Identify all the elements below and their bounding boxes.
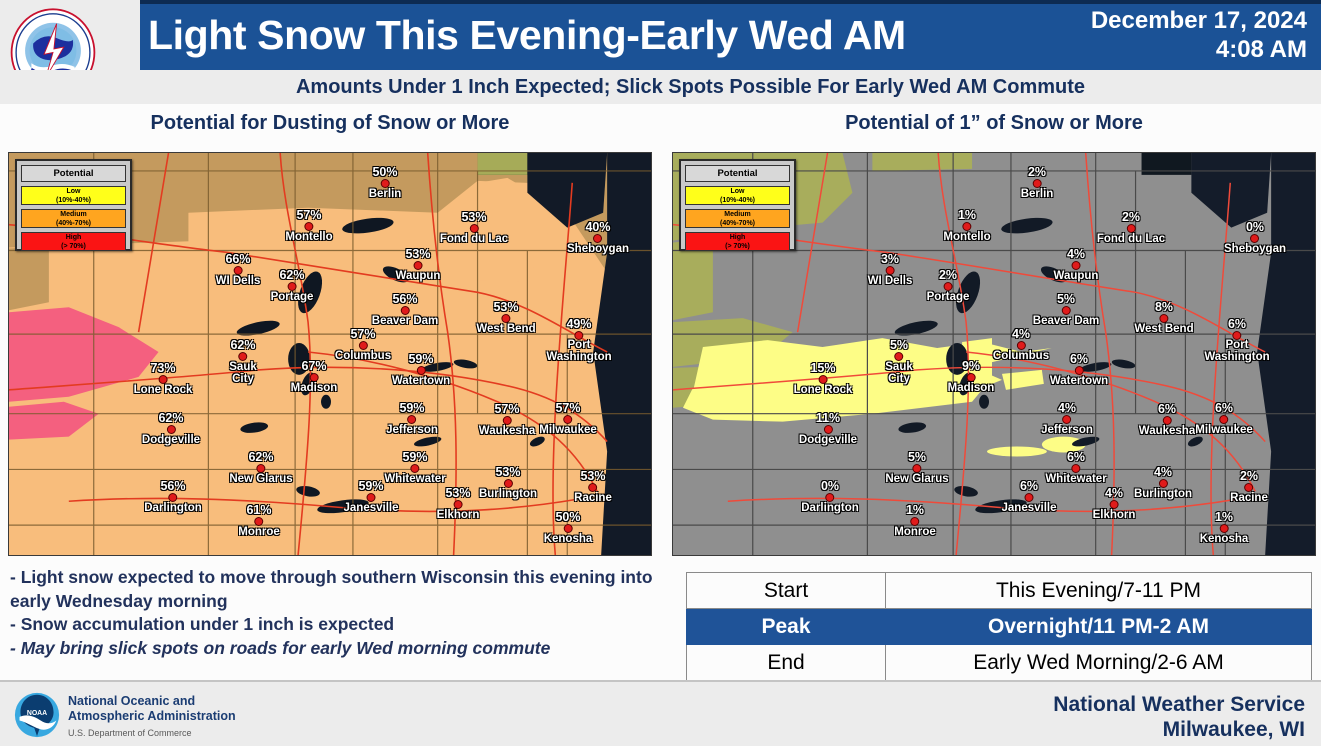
city-dot-icon	[158, 375, 167, 384]
city-name: WI Dells	[216, 275, 261, 287]
city-probability: 49%	[546, 318, 611, 331]
table-row: Start This Evening/7-11 PM	[687, 573, 1312, 609]
city-marker: 1%Monroe	[894, 504, 936, 538]
city-name: Dodgeville	[799, 434, 857, 446]
city-name: Milwaukee	[1195, 424, 1253, 436]
city-dot-icon	[169, 493, 178, 502]
city-name: Watertown	[392, 375, 450, 387]
city-probability: 5%	[885, 339, 913, 352]
city-probability: 0%	[801, 480, 859, 493]
city-name: PortWashington	[1204, 340, 1269, 363]
city-probability: 6%	[1195, 402, 1253, 415]
city-probability: 2%	[1021, 166, 1054, 179]
city-name: Montello	[943, 231, 990, 243]
city-probability: 59%	[344, 480, 399, 493]
legend-title-right: Potential	[685, 165, 790, 182]
city-dot-icon	[454, 500, 463, 509]
city-dot-icon	[255, 517, 264, 526]
city-marker: 2%Berlin	[1021, 166, 1054, 200]
svg-text:NOAA: NOAA	[27, 710, 47, 717]
city-marker: 15%Lone Rock	[794, 362, 853, 396]
city-marker: 53%Fond du Lac	[440, 211, 508, 245]
city-dot-icon	[381, 179, 390, 188]
city-marker: 4%Elkhorn	[1093, 487, 1136, 521]
city-probability: 6%	[1045, 451, 1106, 464]
city-probability: 57%	[285, 209, 332, 222]
city-probability: 57%	[539, 402, 597, 415]
city-name: Beaver Dam	[1033, 315, 1099, 327]
city-probability: 4%	[1054, 248, 1099, 261]
city-dot-icon	[469, 224, 478, 233]
timing-value-start: This Evening/7-11 PM	[886, 573, 1312, 609]
city-name: Watertown	[1050, 375, 1108, 387]
city-marker: 62%SaukCity	[229, 339, 257, 385]
city-probability: 5%	[885, 451, 948, 464]
legend-low-label-right: Low	[686, 188, 789, 197]
city-name: New Glarus	[229, 473, 292, 485]
city-marker: 2%Fond du Lac	[1097, 211, 1165, 245]
city-dot-icon	[1024, 493, 1033, 502]
city-probability: 56%	[144, 480, 202, 493]
city-probability: 61%	[238, 504, 280, 517]
city-marker: 6%Janesville	[1002, 480, 1057, 514]
city-dot-icon	[167, 425, 176, 434]
city-name: Sheboygan	[1224, 243, 1286, 255]
city-dot-icon	[1159, 479, 1168, 488]
timing-label-peak: Peak	[687, 609, 886, 645]
city-marker: 57%Columbus	[335, 328, 391, 362]
city-marker: 9%Madison	[948, 360, 995, 394]
city-marker: 1%Kenosha	[1200, 511, 1249, 545]
city-dot-icon	[1250, 234, 1259, 243]
city-name: Fond du Lac	[1097, 233, 1165, 245]
legend-row-low: Low (10%-40%)	[21, 186, 126, 205]
legend-medium-range: (40%-70%)	[22, 220, 125, 229]
city-dot-icon	[1219, 524, 1228, 533]
city-marker: 2%Portage	[927, 269, 970, 303]
city-dot-icon	[1074, 366, 1083, 375]
city-dot-icon	[1072, 464, 1081, 473]
footer-bar: NOAA National Oceanic and Atmospheric Ad…	[0, 680, 1321, 746]
city-dot-icon	[358, 341, 367, 350]
city-dot-icon	[1220, 415, 1229, 424]
city-probability: 53%	[396, 248, 441, 261]
city-marker: 1%Montello	[943, 209, 990, 243]
city-probability: 59%	[384, 451, 445, 464]
legend-row-low-right: Low (10%-40%)	[685, 186, 790, 205]
city-probability: 53%	[574, 470, 612, 483]
city-name: Darlington	[801, 502, 859, 514]
city-marker: 49%PortWashington	[546, 318, 611, 363]
city-name: Beaver Dam	[372, 315, 438, 327]
city-marker: 59%Watertown	[392, 353, 450, 387]
city-marker: 4%Waupun	[1054, 248, 1099, 282]
city-dot-icon	[503, 416, 512, 425]
city-name: Elkhorn	[437, 509, 480, 521]
city-name: Waupun	[1054, 270, 1099, 282]
city-probability: 53%	[476, 301, 535, 314]
city-probability: 1%	[1200, 511, 1249, 524]
city-probability: 6%	[1204, 318, 1269, 331]
table-row: Peak Overnight/11 PM-2 AM	[687, 609, 1312, 645]
city-dot-icon	[413, 261, 422, 270]
city-dot-icon	[911, 517, 920, 526]
city-marker: 40%Sheboygan	[567, 221, 629, 255]
noaa-department: U.S. Department of Commerce	[68, 728, 192, 738]
city-dot-icon	[818, 375, 827, 384]
city-marker: 4%Jefferson	[1041, 402, 1093, 436]
city-name: Lone Rock	[794, 384, 853, 396]
city-dot-icon	[416, 366, 425, 375]
city-probability: 73%	[134, 362, 193, 375]
legend-high-range: (> 70%)	[22, 243, 125, 252]
timing-label-end: End	[687, 645, 886, 681]
city-name: West Bend	[476, 323, 535, 335]
city-name: Kenosha	[544, 533, 593, 545]
city-marker: 11%Dodgeville	[799, 412, 857, 446]
city-probability: 56%	[372, 293, 438, 306]
city-probability: 59%	[386, 402, 438, 415]
city-name: Darlington	[144, 502, 202, 514]
headline-title: Light Snow This Evening-Early Wed AM	[148, 8, 988, 62]
city-dot-icon	[563, 524, 572, 533]
city-probability: 6%	[1050, 353, 1108, 366]
subheader-text: Amounts Under 1 Inch Expected; Slick Spo…	[0, 70, 1321, 104]
city-name: Sheboygan	[567, 243, 629, 255]
city-name: Elkhorn	[1093, 509, 1136, 521]
city-name: Columbus	[993, 350, 1049, 362]
legend-row-medium: Medium (40%-70%)	[21, 209, 126, 228]
city-probability: 11%	[799, 412, 857, 425]
city-marker: 73%Lone Rock	[134, 362, 193, 396]
city-marker: 61%Monroe	[238, 504, 280, 538]
noaa-line-2: Atmospheric Administration	[68, 709, 236, 724]
city-marker: 0%Sheboygan	[1224, 221, 1286, 255]
city-dot-icon	[233, 266, 242, 275]
city-dot-icon	[963, 222, 972, 231]
city-marker: 62%Dodgeville	[142, 412, 200, 446]
city-marker: 66%WI Dells	[216, 253, 261, 287]
city-probability: 2%	[1097, 211, 1165, 224]
office-line-2: Milwaukee, WI	[1053, 717, 1305, 742]
city-probability: 6%	[1139, 403, 1195, 416]
city-dot-icon	[1110, 500, 1119, 509]
city-dot-icon	[287, 282, 296, 291]
city-name: Waukesha	[479, 425, 535, 437]
issued-time: 4:08 AM	[1091, 35, 1307, 64]
city-name: Madison	[291, 382, 338, 394]
noaa-agency-name: National Oceanic and Atmospheric Adminis…	[68, 694, 236, 724]
city-name: SaukCity	[229, 361, 257, 385]
city-marker: 6%PortWashington	[1204, 318, 1269, 363]
city-probability: 2%	[1230, 470, 1268, 483]
city-marker: 5%SaukCity	[885, 339, 913, 385]
city-probability: 3%	[868, 253, 913, 266]
legend-medium-label: Medium	[22, 211, 125, 220]
city-marker: 6%Watertown	[1050, 353, 1108, 387]
city-name: Madison	[948, 382, 995, 394]
city-marker: 57%Montello	[285, 209, 332, 243]
left-panel-title: Potential for Dusting of Snow or More	[8, 112, 652, 135]
city-marker: 57%Milwaukee	[539, 402, 597, 436]
city-dot-icon	[895, 352, 904, 361]
city-dot-icon	[826, 493, 835, 502]
city-probability: 1%	[894, 504, 936, 517]
timing-table: Start This Evening/7-11 PM Peak Overnigh…	[686, 572, 1312, 681]
issued-datetime: December 17, 2024 4:08 AM	[1091, 6, 1307, 64]
city-probability: 50%	[369, 166, 402, 179]
city-marker: 57%Waukesha	[479, 403, 535, 437]
legend-left: Potential Low (10%-40%) Medium (40%-70%)…	[15, 159, 132, 251]
city-name: West Bend	[1134, 323, 1193, 335]
city-name: Racine	[1230, 492, 1268, 504]
map-one-inch-potential[interactable]: Potential Low (10%-40%) Medium (40%-70%)…	[672, 152, 1316, 556]
city-probability: 62%	[229, 451, 292, 464]
city-probability: 4%	[993, 328, 1049, 341]
city-name: Fond du Lac	[440, 233, 508, 245]
city-dot-icon	[913, 464, 922, 473]
noaa-logo-icon: NOAA	[14, 692, 60, 738]
city-name: Montello	[285, 231, 332, 243]
city-name: Burlington	[479, 488, 537, 500]
city-marker: 62%Portage	[271, 269, 314, 303]
legend-low-range: (10%-40%)	[22, 197, 125, 206]
timing-value-end: Early Wed Morning/2-6 AM	[886, 645, 1312, 681]
city-probability: 5%	[1033, 293, 1099, 306]
city-dot-icon	[400, 306, 409, 315]
city-name: Columbus	[335, 350, 391, 362]
city-probability: 62%	[142, 412, 200, 425]
city-marker: 50%Berlin	[369, 166, 402, 200]
city-dot-icon	[257, 464, 266, 473]
city-name: Dodgeville	[142, 434, 200, 446]
city-marker: 0%Darlington	[801, 480, 859, 514]
legend-high-label: High	[22, 234, 125, 243]
city-dot-icon	[408, 415, 417, 424]
bullet-item: - Snow accumulation under 1 inch is expe…	[10, 613, 660, 637]
city-probability: 59%	[392, 353, 450, 366]
legend-high-label-right: High	[686, 234, 789, 243]
city-marker: 53%West Bend	[476, 301, 535, 335]
city-dot-icon	[1163, 416, 1172, 425]
legend-medium-range-right: (40%-70%)	[686, 220, 789, 229]
city-name: Kenosha	[1200, 533, 1249, 545]
city-marker: 62%New Glarus	[229, 451, 292, 485]
bullet-item: - May bring slick spots on roads for ear…	[10, 637, 660, 661]
city-marker: 56%Darlington	[144, 480, 202, 514]
city-dot-icon	[411, 464, 420, 473]
city-dot-icon	[309, 373, 318, 382]
city-name: Jefferson	[386, 424, 438, 436]
city-name: Racine	[574, 492, 612, 504]
table-row: End Early Wed Morning/2-6 AM	[687, 645, 1312, 681]
city-name: Portage	[927, 291, 970, 303]
city-dot-icon	[589, 483, 598, 492]
legend-low-range-right: (10%-40%)	[686, 197, 789, 206]
city-probability: 4%	[1093, 487, 1136, 500]
city-probability: 1%	[943, 209, 990, 222]
city-dot-icon	[564, 415, 573, 424]
city-marker: 6%Milwaukee	[1195, 402, 1253, 436]
city-probability: 62%	[229, 339, 257, 352]
city-name: Berlin	[369, 188, 402, 200]
city-dot-icon	[885, 266, 894, 275]
city-name: Janesville	[344, 502, 399, 514]
city-marker: 6%Waukesha	[1139, 403, 1195, 437]
city-name: Lone Rock	[134, 384, 193, 396]
city-marker: 5%New Glarus	[885, 451, 948, 485]
city-dot-icon	[824, 425, 833, 434]
city-marker: 56%Beaver Dam	[372, 293, 438, 327]
city-marker: 3%WI Dells	[868, 253, 913, 287]
legend-medium-label-right: Medium	[686, 211, 789, 220]
timing-value-peak: Overnight/11 PM-2 AM	[886, 609, 1312, 645]
city-name: Waukesha	[1139, 425, 1195, 437]
city-probability: 15%	[794, 362, 853, 375]
city-name: Janesville	[1002, 502, 1057, 514]
city-probability: 53%	[479, 466, 537, 479]
city-probability: 67%	[291, 360, 338, 373]
city-marker: 53%Waupun	[396, 248, 441, 282]
city-dot-icon	[1063, 415, 1072, 424]
city-marker: 8%West Bend	[1134, 301, 1193, 335]
city-marker: 53%Racine	[574, 470, 612, 504]
city-name: New Glarus	[885, 473, 948, 485]
city-dot-icon	[239, 352, 248, 361]
city-name: WI Dells	[868, 275, 913, 287]
city-name: Burlington	[1134, 488, 1192, 500]
legend-title: Potential	[21, 165, 126, 182]
issued-date: December 17, 2024	[1091, 6, 1307, 35]
city-marker: 50%Kenosha	[544, 511, 593, 545]
city-name: PortWashington	[546, 340, 611, 363]
legend-low-label: Low	[22, 188, 125, 197]
city-probability: 57%	[479, 403, 535, 416]
summary-bullets: - Light snow expected to move through so…	[10, 566, 660, 660]
city-probability: 8%	[1134, 301, 1193, 314]
legend-right: Potential Low (10%-40%) Medium (40%-70%)…	[679, 159, 796, 251]
city-name: Milwaukee	[539, 424, 597, 436]
issuing-office: National Weather Service Milwaukee, WI	[1053, 692, 1305, 742]
legend-row-high: High (> 70%)	[21, 232, 126, 251]
city-marker: 59%Janesville	[344, 480, 399, 514]
city-marker: 53%Elkhorn	[437, 487, 480, 521]
office-line-1: National Weather Service	[1053, 692, 1305, 717]
city-name: Berlin	[1021, 188, 1054, 200]
noaa-line-1: National Oceanic and	[68, 694, 236, 709]
city-dot-icon	[1160, 314, 1169, 323]
city-name: Monroe	[238, 526, 280, 538]
legend-high-range-right: (> 70%)	[686, 243, 789, 252]
city-marker: 53%Burlington	[479, 466, 537, 500]
bullet-item: - Light snow expected to move through so…	[10, 566, 660, 613]
city-name: Waupun	[396, 270, 441, 282]
city-name: Jefferson	[1041, 424, 1093, 436]
city-dot-icon	[593, 234, 602, 243]
city-probability: 2%	[927, 269, 970, 282]
city-probability: 9%	[948, 360, 995, 373]
city-dot-icon	[966, 373, 975, 382]
city-probability: 6%	[1002, 480, 1057, 493]
legend-row-medium-right: Medium (40%-70%)	[685, 209, 790, 228]
city-probability: 62%	[271, 269, 314, 282]
city-marker: 67%Madison	[291, 360, 338, 394]
header-top-strip	[0, 0, 1321, 4]
city-marker: 59%Jefferson	[386, 402, 438, 436]
legend-row-high-right: High (> 70%)	[685, 232, 790, 251]
city-probability: 4%	[1041, 402, 1093, 415]
timing-label-start: Start	[687, 573, 886, 609]
city-dot-icon	[1033, 179, 1042, 188]
weather-graphic-page: Light Snow This Evening-Early Wed AM Dec…	[0, 0, 1321, 744]
city-probability: 40%	[567, 221, 629, 234]
city-dot-icon	[1126, 224, 1135, 233]
city-dot-icon	[1071, 261, 1080, 270]
city-marker: 2%Racine	[1230, 470, 1268, 504]
city-probability: 53%	[440, 211, 508, 224]
city-probability: 57%	[335, 328, 391, 341]
city-dot-icon	[1016, 341, 1025, 350]
city-dot-icon	[305, 222, 314, 231]
city-name: Portage	[271, 291, 314, 303]
city-marker: 4%Burlington	[1134, 466, 1192, 500]
city-name: Monroe	[894, 526, 936, 538]
city-probability: 50%	[544, 511, 593, 524]
map-dusting-potential[interactable]: Potential Low (10%-40%) Medium (40%-70%)…	[8, 152, 652, 556]
city-dot-icon	[504, 479, 513, 488]
city-marker: 4%Columbus	[993, 328, 1049, 362]
city-probability: 66%	[216, 253, 261, 266]
city-dot-icon	[502, 314, 511, 323]
city-dot-icon	[943, 282, 952, 291]
city-dot-icon	[366, 493, 375, 502]
city-dot-icon	[1245, 483, 1254, 492]
city-name: SaukCity	[885, 361, 913, 385]
city-marker: 5%Beaver Dam	[1033, 293, 1099, 327]
city-probability: 4%	[1134, 466, 1192, 479]
right-panel-title: Potential of 1” of Snow or More	[672, 112, 1316, 135]
city-probability: 53%	[437, 487, 480, 500]
city-dot-icon	[1061, 306, 1070, 315]
city-probability: 0%	[1224, 221, 1286, 234]
